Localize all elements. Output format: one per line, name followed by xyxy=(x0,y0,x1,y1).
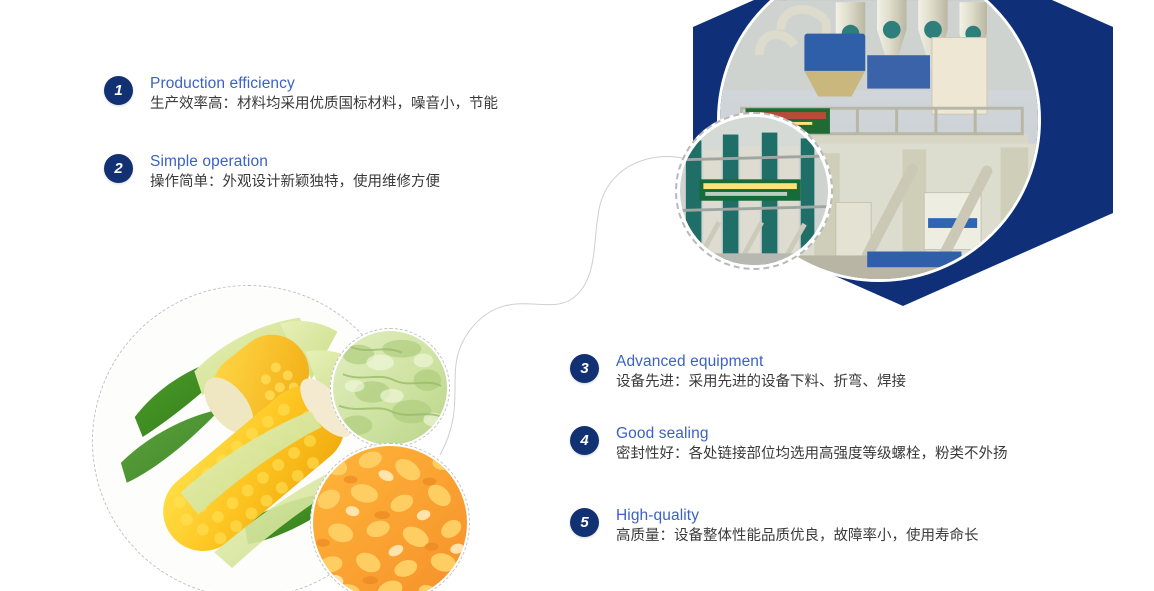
feature-number-badge-2: 2 xyxy=(104,154,133,183)
feature-number-badge-3: 3 xyxy=(570,354,599,383)
feature-title-3: Advanced equipment xyxy=(616,352,906,371)
feature-desc-1: 生产效率高：材料均采用优质国标材料，噪音小，节能 xyxy=(150,93,498,115)
feature-title-2: Simple operation xyxy=(150,152,440,171)
feature-title-4: Good sealing xyxy=(616,424,1008,443)
feature-number-badge-1: 1 xyxy=(104,76,133,105)
green-machinery-photo xyxy=(675,112,833,270)
feature-item-5[interactable]: 5 High-quality 高质量：设备整体性能品质优良，故障率小，使用寿命长 xyxy=(570,506,979,547)
feature-desc-3: 设备先进：采用先进的设备下料、折弯、焊接 xyxy=(616,371,906,393)
feature-item-4[interactable]: 4 Good sealing 密封性好：各处链接部位均选用高强度等级螺栓，粉类不… xyxy=(570,424,1008,465)
feature-desc-2: 操作简单：外观设计新颖独特，使用维修方便 xyxy=(150,171,440,193)
feature-desc-5: 高质量：设备整体性能品质优良，故障率小，使用寿命长 xyxy=(616,525,979,547)
feature-title-1: Production efficiency xyxy=(150,74,498,93)
feature-number-badge-4: 4 xyxy=(570,426,599,455)
feature-item-1[interactable]: 1 Production efficiency 生产效率高：材料均采用优质国标材… xyxy=(104,74,498,115)
feature-item-3[interactable]: 3 Advanced equipment 设备先进：采用先进的设备下料、折弯、焊… xyxy=(570,352,906,393)
corn-paste-photo xyxy=(330,328,450,448)
corn-grits-photo xyxy=(310,443,470,591)
feature-number-badge-5: 5 xyxy=(570,508,599,537)
feature-item-2[interactable]: 2 Simple operation 操作简单：外观设计新颖独特，使用维修方便 xyxy=(104,152,440,193)
feature-desc-4: 密封性好：各处链接部位均选用高强度等级螺栓，粉类不外扬 xyxy=(616,443,1008,465)
feature-title-5: High-quality xyxy=(616,506,979,525)
infographic-stage: 1 Production efficiency 生产效率高：材料均采用优质国标材… xyxy=(0,0,1154,591)
